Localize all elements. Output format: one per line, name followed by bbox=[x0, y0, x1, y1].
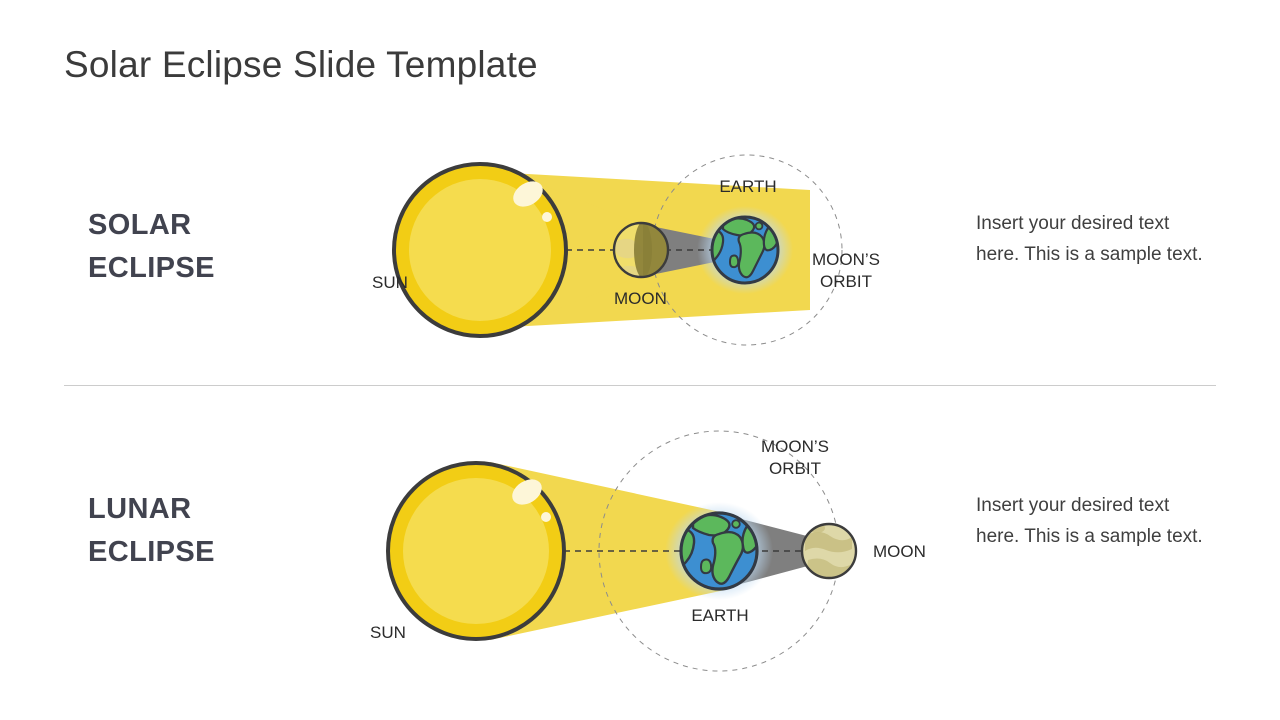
label-moons-orbit-line2: ORBIT bbox=[769, 459, 821, 478]
solar-eclipse-body-text: Insert your desired text here. This is a… bbox=[976, 208, 1204, 271]
lunar-eclipse-heading-line1: LUNAR bbox=[88, 488, 348, 531]
earth-land-dot bbox=[756, 223, 763, 230]
sun-highlight-small bbox=[542, 212, 552, 222]
sun-highlight-small bbox=[541, 512, 551, 522]
label-moons-orbit-line2: ORBIT bbox=[820, 272, 872, 291]
page-title: Solar Eclipse Slide Template bbox=[64, 44, 538, 86]
label-sun: SUN bbox=[372, 273, 408, 292]
lunar-eclipse-body-text: Insert your desired text here. This is a… bbox=[976, 490, 1204, 553]
label-earth: EARTH bbox=[691, 606, 748, 625]
label-earth: EARTH bbox=[719, 177, 776, 196]
solar-eclipse-diagram: SUN MOON EARTH MOON’S ORBIT bbox=[340, 110, 940, 385]
earth-land-dot bbox=[732, 520, 740, 528]
label-moon: MOON bbox=[614, 289, 667, 308]
section-divider bbox=[64, 385, 1216, 386]
lunar-eclipse-row: LUNAR ECLIPSE bbox=[0, 400, 1280, 680]
label-moons-orbit-line1: MOON’S bbox=[812, 250, 880, 269]
lunar-eclipse-diagram: SUN EARTH MOON MOON’S ORBIT bbox=[340, 400, 960, 685]
earth-land-island bbox=[701, 560, 711, 574]
solar-eclipse-heading: SOLAR ECLIPSE bbox=[88, 204, 348, 290]
label-moon: MOON bbox=[873, 542, 926, 561]
solar-eclipse-row: SOLAR ECLIPSE bbox=[0, 110, 1280, 380]
earth-land-island bbox=[730, 256, 738, 268]
label-sun: SUN bbox=[370, 623, 406, 642]
solar-eclipse-heading-line2: ECLIPSE bbox=[88, 247, 348, 290]
solar-eclipse-heading-line1: SOLAR bbox=[88, 204, 348, 247]
lunar-eclipse-heading-line2: ECLIPSE bbox=[88, 531, 348, 574]
lunar-eclipse-heading: LUNAR ECLIPSE bbox=[88, 488, 348, 574]
moon-terminator bbox=[634, 222, 652, 278]
label-moons-orbit-line1: MOON’S bbox=[761, 437, 829, 456]
